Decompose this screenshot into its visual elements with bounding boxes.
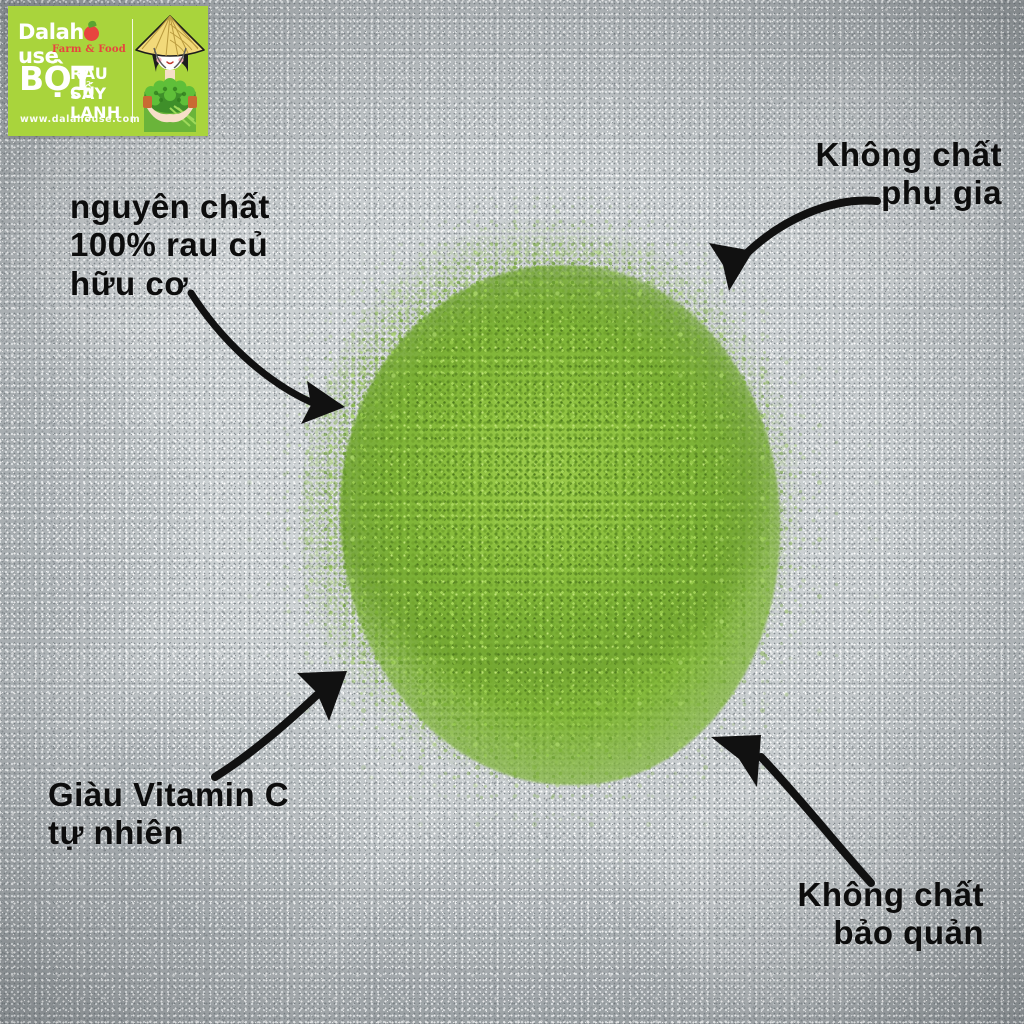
tomato-icon [84,26,99,41]
brand-tagline: Farm & Food [52,44,126,55]
brand-divider [132,19,133,123]
vegetable-powder-pile [300,210,820,830]
product-photo-canvas: nguyên chất 100% rau củ hữu cơ Không chấ… [0,0,1024,1024]
annotation-no-additives-text: Không chất phụ gia [816,136,1002,213]
brand-left-panel: Dalahuse Farm & Food BỘT RAU CỦ SẤY LẠNH… [8,6,132,136]
brand-logo: Dalahuse [18,20,126,44]
brand-label[interactable]: Dalahuse Farm & Food BỘT RAU CỦ SẤY LẠNH… [8,6,208,136]
brand-logo-part1: Dalah [18,20,84,44]
powder-top-scatter [430,200,730,320]
annotation-no-preservatives-text: Không chất bảo quản [798,876,984,953]
annotation-vitamin-c-text: Giàu Vitamin C tự nhiên [48,776,289,853]
annotation-purity-text: nguyên chất 100% rau củ hữu cơ [70,188,270,303]
farmer-girl-illustration [134,14,206,132]
brand-website-url[interactable]: www.dalahouse.com [20,114,140,125]
